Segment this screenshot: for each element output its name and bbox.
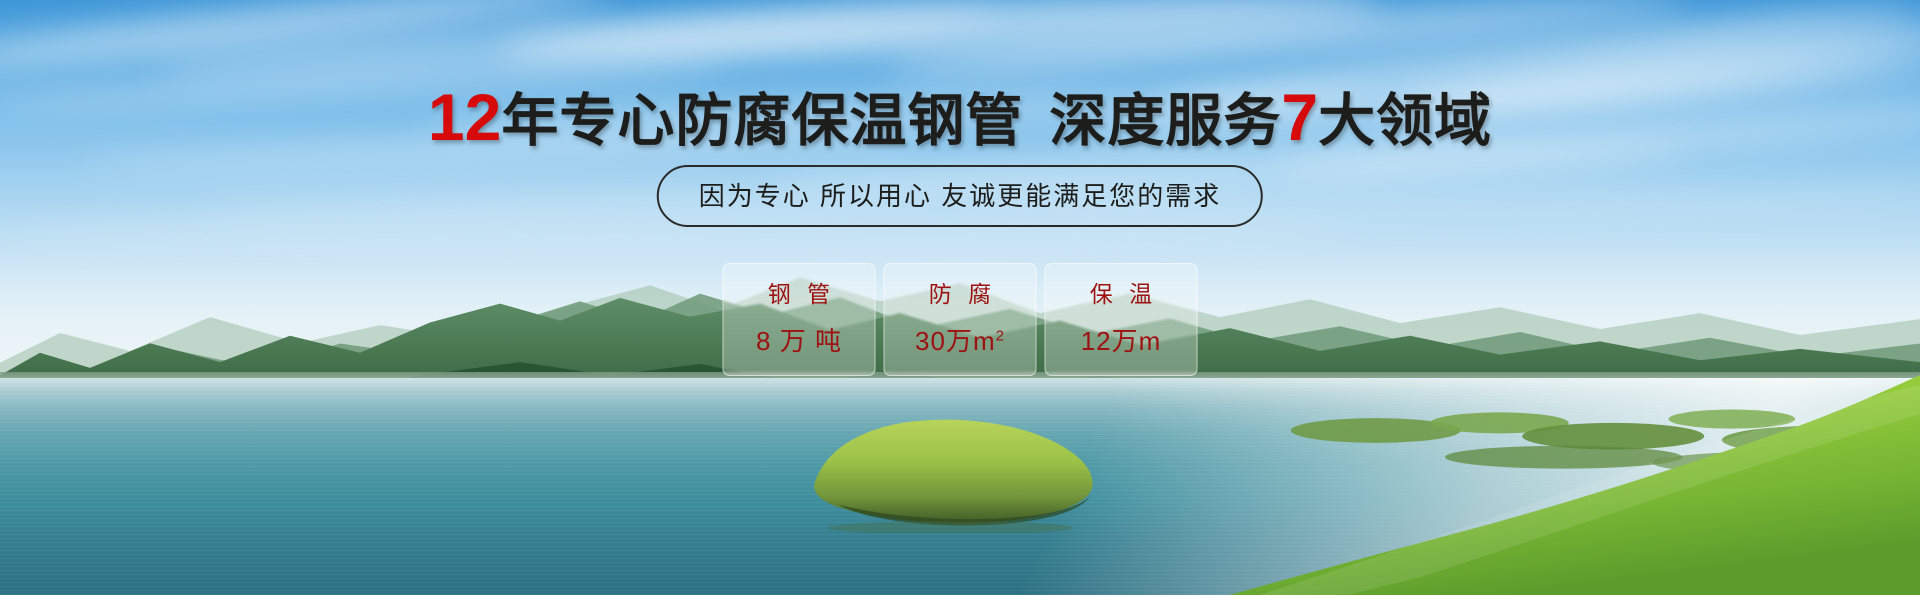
stat-card-value: 8 万 吨 <box>756 328 842 354</box>
stat-value-text: 30万m <box>915 326 996 356</box>
page-title: 12年专心防腐保温钢管深度服务7大领域 <box>0 84 1920 150</box>
stat-card-label: 保 温 <box>1085 283 1157 306</box>
hero-banner: 12年专心防腐保温钢管深度服务7大领域 因为专心 所以用心 友诚更能满足您的需求… <box>0 0 1920 595</box>
stat-value-superscript: 2 <box>996 327 1005 344</box>
stat-card-label: 防 腐 <box>924 283 996 306</box>
banner-content: 12年专心防腐保温钢管深度服务7大领域 因为专心 所以用心 友诚更能满足您的需求… <box>0 0 1920 595</box>
headline-text-3: 大领域 <box>1318 89 1492 153</box>
stat-card-group: 钢 管 8 万 吨 防 腐 30万m2 保 温 12万m <box>723 263 1198 376</box>
headline-text-1: 年专心防腐保温钢管 <box>501 89 1023 153</box>
stat-card-insulation: 保 温 12万m <box>1045 263 1198 376</box>
stat-card-value: 30万m2 <box>915 328 1005 354</box>
headline-fields-number: 7 <box>1281 80 1318 154</box>
stat-card-label: 钢 管 <box>763 283 835 306</box>
stat-card-steel-pipe: 钢 管 8 万 吨 <box>723 263 876 376</box>
headline-years-number: 12 <box>428 80 501 154</box>
headline-text-2: 深度服务 <box>1049 89 1281 153</box>
stat-card-anticorrosion: 防 腐 30万m2 <box>884 263 1037 376</box>
stat-value-text: 8 万 吨 <box>756 326 842 356</box>
stat-value-text: 12万m <box>1081 326 1162 356</box>
stat-card-value: 12万m <box>1081 328 1162 354</box>
subtitle-pill: 因为专心 所以用心 友诚更能满足您的需求 <box>657 165 1263 227</box>
